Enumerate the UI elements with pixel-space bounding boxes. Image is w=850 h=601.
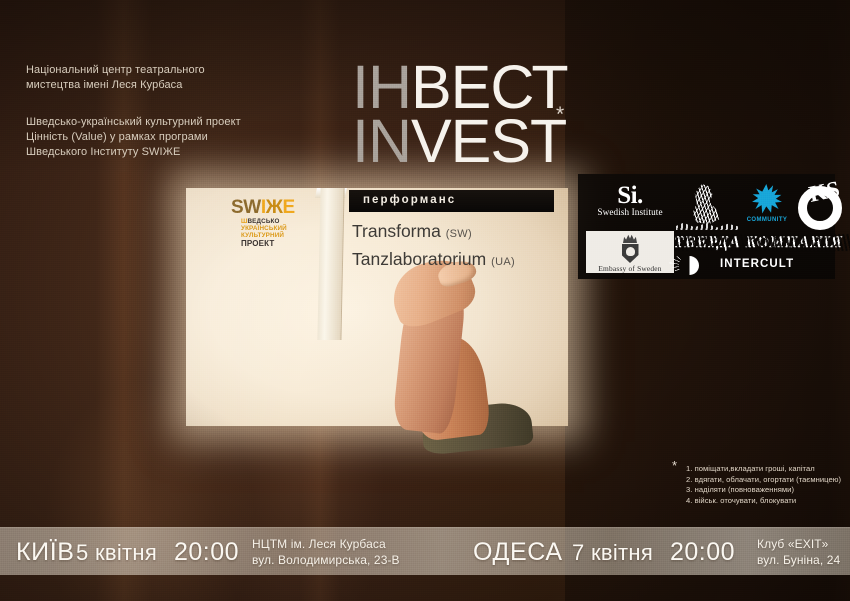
film-grain-overlay — [0, 0, 850, 601]
poster-canvas: Національний центр театрального мистецтв… — [0, 0, 850, 601]
